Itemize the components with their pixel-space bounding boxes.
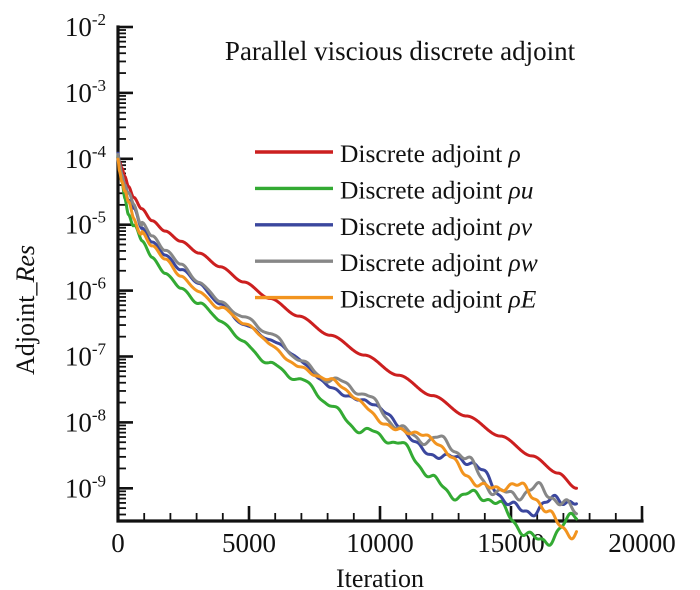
y-tick-label: 10-5 xyxy=(65,208,106,240)
residual-convergence-chart: Adjoint_Res 10-210-310-410-510-610-710-8… xyxy=(0,0,700,590)
y-axis-label: Adjoint_Res xyxy=(11,245,40,375)
x-axis-tick-labels: 05000100001500020000Iteration xyxy=(111,528,676,590)
x-tick-label: 20000 xyxy=(608,528,676,558)
y-axis-tick-labels: 10-210-310-410-510-610-710-810-9 xyxy=(65,10,107,503)
series-line-1 xyxy=(118,157,577,488)
y-tick-label: 10-2 xyxy=(65,10,106,42)
x-tick-label: 10000 xyxy=(346,528,414,558)
y-tick-label: 10-8 xyxy=(65,405,106,437)
legend-label-4: Discrete adjoint ρw xyxy=(340,248,538,277)
svg-text:Adjoint_Res: Adjoint_Res xyxy=(11,245,40,375)
legend-label-2: Discrete adjoint ρu xyxy=(340,175,534,204)
y-tick-label: 10-3 xyxy=(65,76,106,108)
legend-label-5: Discrete adjoint ρE xyxy=(340,285,537,314)
y-tick-label: 10-9 xyxy=(65,471,106,503)
x-tick-label: 5000 xyxy=(222,528,276,558)
x-tick-label: 15000 xyxy=(477,528,545,558)
series-line-4 xyxy=(118,154,577,513)
y-tick-label: 10-6 xyxy=(65,274,106,306)
y-tick-label: 10-4 xyxy=(65,142,107,174)
chart-legend: Discrete adjoint ρDiscrete adjoint ρuDis… xyxy=(255,139,538,314)
y-tick-label: 10-7 xyxy=(65,340,107,372)
x-axis-label: Iteration xyxy=(336,564,424,590)
series-line-3 xyxy=(118,153,577,516)
legend-label-3: Discrete adjoint ρv xyxy=(340,212,533,241)
chart-container: Adjoint_Res 10-210-310-410-510-610-710-8… xyxy=(0,0,700,590)
svg-text:Parallel viscious discrete adj: Parallel viscious discrete adjoint xyxy=(225,36,576,66)
chart-title: Parallel viscious discrete adjoint xyxy=(225,36,576,66)
x-tick-label: 0 xyxy=(111,528,125,558)
legend-label-1: Discrete adjoint ρ xyxy=(340,139,521,168)
